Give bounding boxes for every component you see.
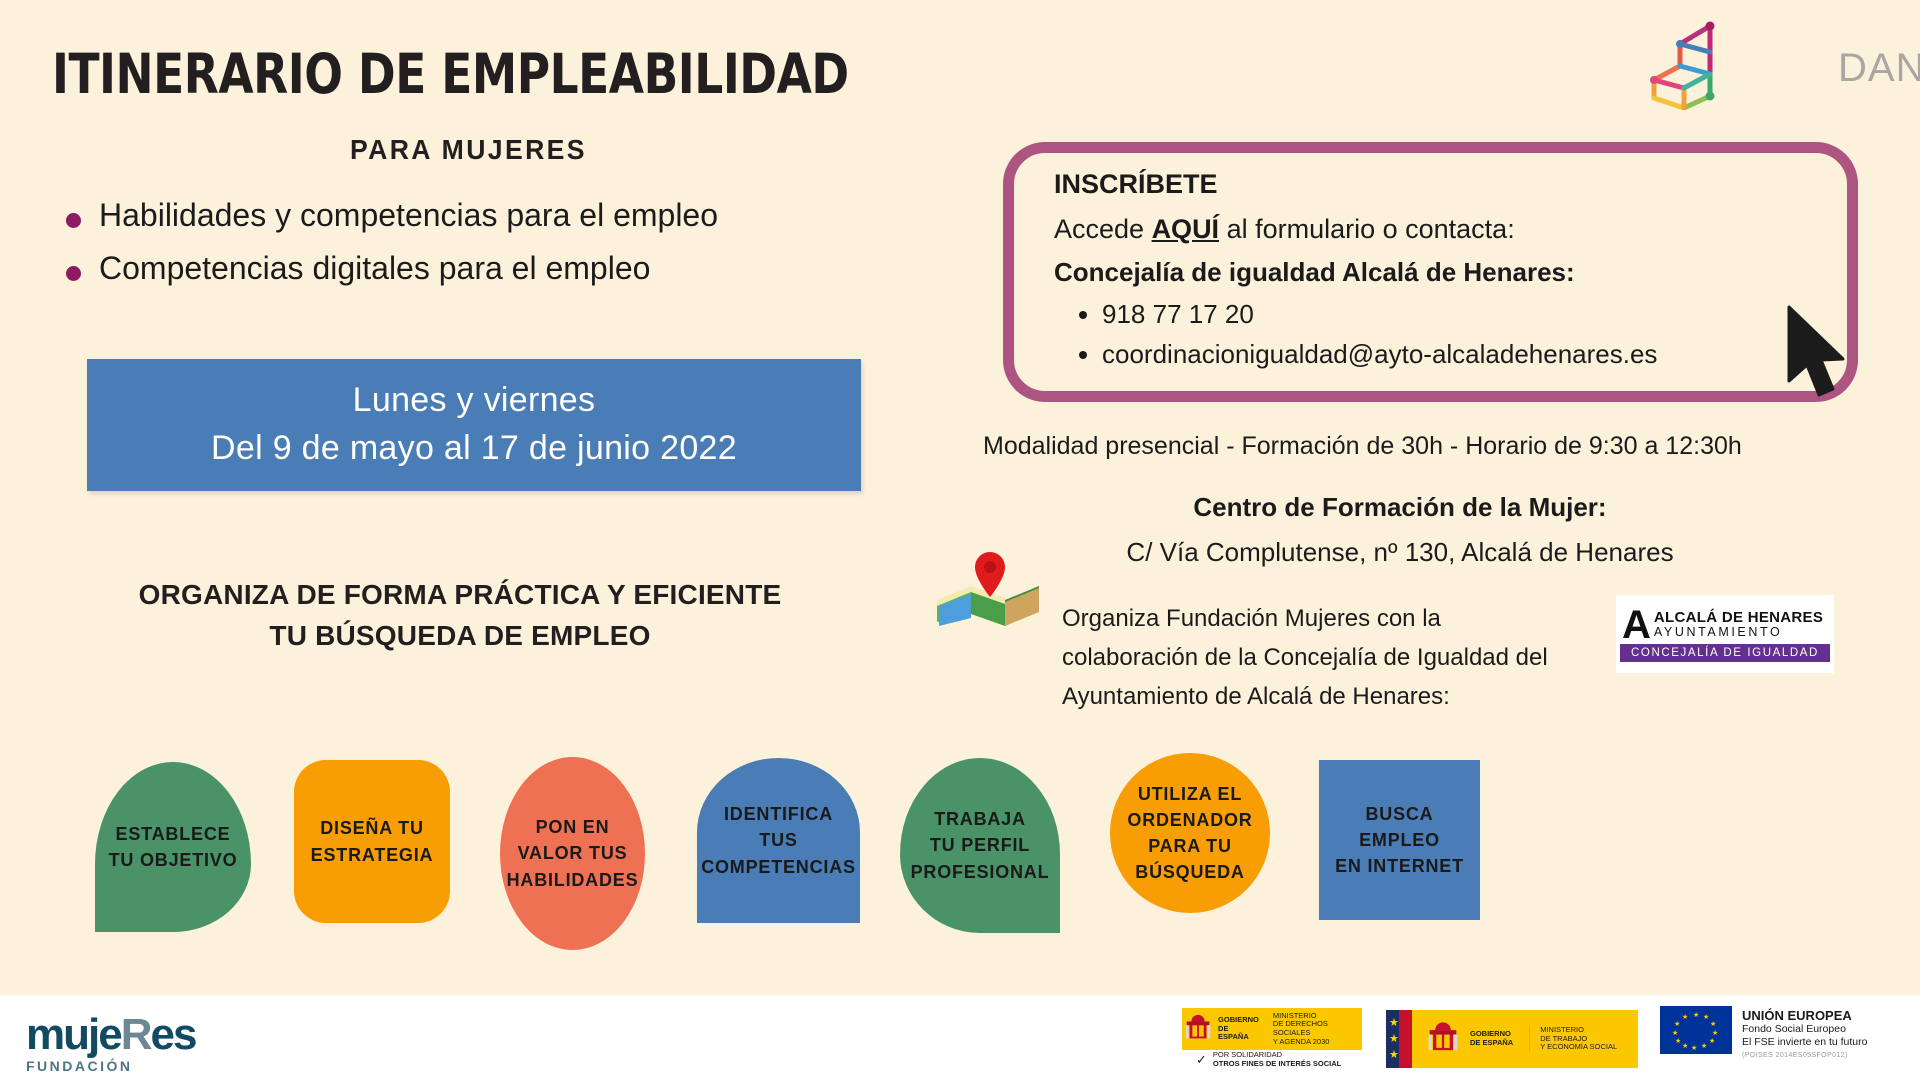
ayuntamiento-logo: A ALCALÁ DE HENARES AYUNTAMIENTO CONCEJA… xyxy=(1616,595,1834,673)
direccion-text: C/ Vía Complutense, nº 130, Alcalá de He… xyxy=(1000,537,1800,568)
fundacion-mujeres-logo: mujeRes FUNDACIÓN xyxy=(26,1013,195,1074)
list-item: Competencias digitales para el empleo xyxy=(66,251,896,287)
svg-text:★: ★ xyxy=(1703,1013,1709,1021)
organiza-heading: ORGANIZA DE FORMA PRÁCTICA Y EFICIENTE T… xyxy=(0,575,920,656)
mujeres-part-2: e xyxy=(98,1010,120,1059)
step-label: UTILIZA ELORDENADORPARA TUBÚSQUEDA xyxy=(1121,781,1258,885)
modalidad-text: Modalidad presencial - Formación de 30h … xyxy=(983,432,1883,461)
svg-text:★: ★ xyxy=(1682,1042,1688,1050)
ministerio-trabajo-line-3: Y ECONOMÍA SOCIAL xyxy=(1540,1043,1617,1052)
mujeres-part-1: muj xyxy=(26,1010,98,1059)
centro-heading: Centro de Formación de la Mujer: xyxy=(1000,492,1800,523)
step-shape-4[interactable]: IDENTIFICATUSCOMPETENCIAS xyxy=(697,758,860,923)
solidaridad-line-2: OTROS FINES DE INTERÉS SOCIAL xyxy=(1213,1060,1341,1069)
dana-wordmark: DANA xyxy=(1838,46,1920,91)
ayuntamiento-line-1: ALCALÁ DE HENARES xyxy=(1654,610,1823,626)
step-shape-5[interactable]: TRABAJATU PERFILPROFESIONAL xyxy=(900,758,1060,933)
bullet-text: Habilidades y competencias para el emple… xyxy=(99,198,718,234)
contact-phone[interactable]: 918 77 17 20 xyxy=(1102,294,1847,334)
eu-spain-flag-icon: ★ ★ ★ xyxy=(1386,1010,1412,1068)
svg-text:★: ★ xyxy=(1709,1037,1715,1045)
step-shape-6[interactable]: UTILIZA ELORDENADORPARA TUBÚSQUEDA xyxy=(1110,753,1270,913)
bullet-dot-icon xyxy=(66,266,81,281)
ayuntamiento-a-icon: A xyxy=(1622,609,1651,641)
bullet-dot-icon xyxy=(66,213,81,228)
colabora-text: Organiza Fundación Mujeres con la colabo… xyxy=(1062,600,1622,717)
mouse-cursor-icon xyxy=(1785,305,1855,405)
ayuntamiento-line-2: AYUNTAMIENTO xyxy=(1654,626,1823,640)
aqui-link[interactable]: AQUÍ xyxy=(1152,214,1220,244)
dana-logo: DANA + xyxy=(1640,16,1910,110)
list-item: Habilidades y competencias para el emple… xyxy=(66,198,896,234)
access-suffix: al formulario o contacta: xyxy=(1219,214,1515,244)
eu-line-2: El FSE invierte en tu futuro xyxy=(1742,1036,1867,1049)
eu-flag-icon: ★★ ★★ ★★ ★★ ★★ ★★ xyxy=(1660,1006,1732,1054)
contact-email[interactable]: coordinacionigualdad@ayto-alcaladehenare… xyxy=(1102,334,1847,374)
step-shape-3[interactable]: PON ENVALOR TUSHABILIDADES xyxy=(500,757,645,950)
organiza-line-1: ORGANIZA DE FORMA PRÁCTICA Y EFICIENTE xyxy=(0,575,920,616)
svg-text:★: ★ xyxy=(1675,1037,1681,1045)
step-shape-2[interactable]: DISEÑA TUESTRATEGIA xyxy=(294,760,450,923)
mujeres-part-4: es xyxy=(151,1010,196,1059)
fundacion-label: FUNDACIÓN xyxy=(26,1058,195,1074)
colabora-line-1: Organiza Fundación Mujeres con la xyxy=(1062,600,1622,639)
step-label: DISEÑA TUESTRATEGIA xyxy=(305,815,440,867)
svg-text:★: ★ xyxy=(1710,1020,1716,1028)
contact-list: 918 77 17 20 coordinacionigualdad@ayto-a… xyxy=(1054,294,1847,375)
inscribete-box: INSCRÍBETE Accede AQUÍ al formulario o c… xyxy=(1003,142,1858,402)
colabora-line-2: colaboración de la Concejalía de Igualda… xyxy=(1062,639,1622,678)
svg-text:★: ★ xyxy=(1712,1029,1718,1037)
map-pin-icon xyxy=(935,548,1045,628)
contact-heading: Concejalía de igualdad Alcalá de Henares… xyxy=(1054,257,1847,288)
ministerio-line-3: Y AGENDA 2030 xyxy=(1273,1038,1362,1047)
union-europea-logo: ★★ ★★ ★★ ★★ ★★ ★★ UNIÓN EUROPEA Fondo So… xyxy=(1660,1006,1895,1072)
ministerio-line-2: DE DERECHOS SOCIALES xyxy=(1273,1020,1362,1037)
page-subtitle: PARA MUJERES xyxy=(350,134,587,166)
mujeres-wordmark: mujeRes xyxy=(26,1013,195,1057)
gobierno-trabajo-logo: ★ ★ ★ GOBIERNO DE ESPAÑA MINISTERIO DE T… xyxy=(1386,1010,1638,1068)
step-shape-7[interactable]: BUSCA EMPLEOEN INTERNET xyxy=(1319,760,1480,920)
svg-text:★: ★ xyxy=(1674,1020,1680,1028)
concejalia-banner: CONCEJALÍA DE IGUALDAD xyxy=(1620,644,1830,662)
bullet-text: Competencias digitales para el empleo xyxy=(99,251,650,287)
mujeres-part-3: R xyxy=(121,1010,151,1059)
svg-text:★: ★ xyxy=(1701,1042,1707,1050)
gobierno-solidaridad-logo: GOBIERNO DE ESPAÑA MINISTERIO DE DERECHO… xyxy=(1182,1008,1362,1070)
poster-canvas: ITINERARIO DE EMPLEABILIDAD PARA MUJERES xyxy=(0,0,1920,1080)
escudo-espana-icon xyxy=(1424,1019,1462,1059)
eu-title: UNIÓN EUROPEA xyxy=(1742,1008,1867,1023)
date-box: Lunes y viernes Del 9 de mayo al 17 de j… xyxy=(87,359,861,491)
step-shape-1[interactable]: ESTABLECETU OBJETIVO xyxy=(95,762,251,932)
step-label: PON ENVALOR TUSHABILIDADES xyxy=(501,814,645,892)
step-label: BUSCA EMPLEOEN INTERNET xyxy=(1319,801,1480,879)
colabora-line-3: Ayuntamiento de Alcalá de Henares: xyxy=(1062,678,1622,717)
eu-line-1: Fondo Social Europeo xyxy=(1742,1023,1867,1036)
check-icon: ✓ xyxy=(1196,1052,1207,1068)
page-title: ITINERARIO DE EMPLEABILIDAD xyxy=(52,42,849,106)
date-line-2: Del 9 de mayo al 17 de junio 2022 xyxy=(211,425,737,473)
date-line-1: Lunes y viernes xyxy=(353,377,596,425)
gobierno-trabajo-line-2: DE ESPAÑA xyxy=(1470,1039,1513,1048)
feature-bullet-list: Habilidades y competencias para el emple… xyxy=(66,198,896,304)
inscribete-title: INSCRÍBETE xyxy=(1054,169,1847,200)
organiza-line-2: TU BÚSQUEDA DE EMPLEO xyxy=(0,616,920,657)
step-label: TRABAJATU PERFILPROFESIONAL xyxy=(905,806,1056,884)
svg-text:★: ★ xyxy=(1672,1029,1678,1037)
eu-program-code: (POISES 2014ES05SFOP012) xyxy=(1742,1052,1867,1059)
gobierno-line-2: DE ESPAÑA xyxy=(1218,1025,1259,1042)
step-label: ESTABLECETU OBJETIVO xyxy=(103,821,244,873)
steps-row: ESTABLECETU OBJETIVODISEÑA TUESTRATEGIAP… xyxy=(0,750,1920,980)
dana-mark-icon xyxy=(1640,16,1840,110)
svg-text:★: ★ xyxy=(1682,1013,1688,1021)
escudo-espana-icon xyxy=(1182,1011,1214,1047)
inscribete-access-line: Accede AQUÍ al formulario o contacta: xyxy=(1054,214,1847,245)
access-prefix: Accede xyxy=(1054,214,1152,244)
svg-text:★: ★ xyxy=(1693,1011,1699,1019)
svg-text:★: ★ xyxy=(1691,1044,1697,1052)
step-label: IDENTIFICATUSCOMPETENCIAS xyxy=(695,801,862,879)
